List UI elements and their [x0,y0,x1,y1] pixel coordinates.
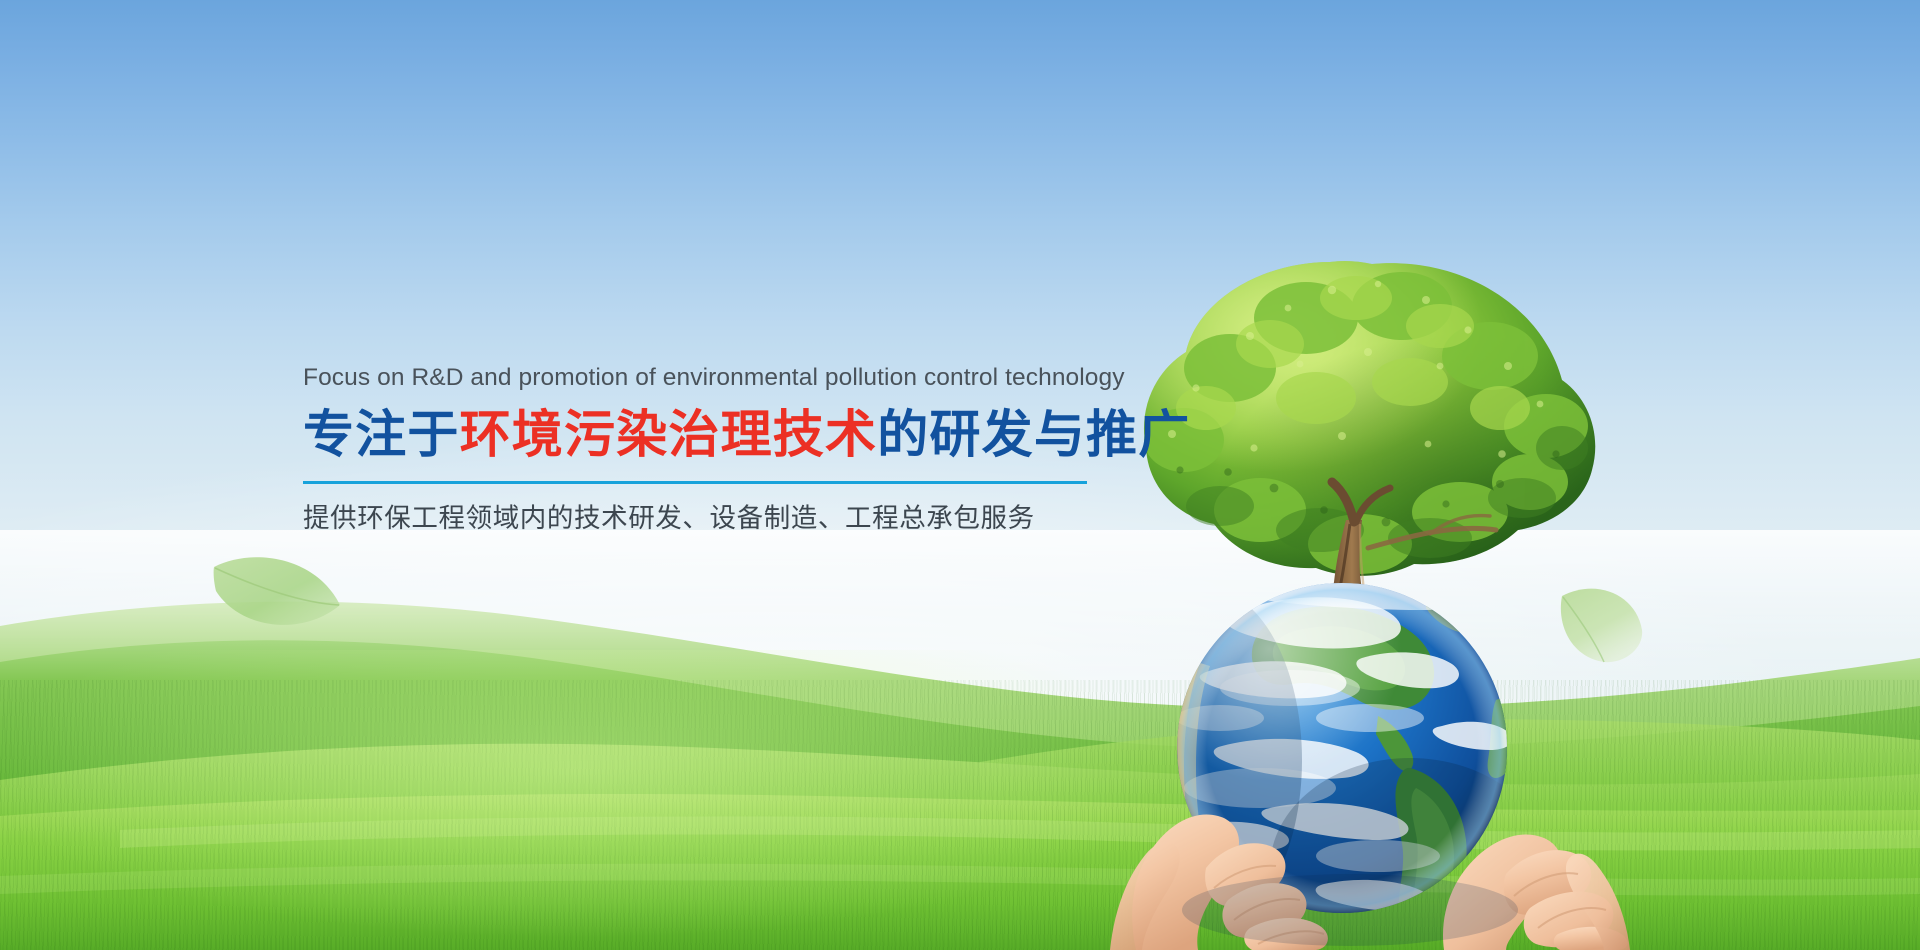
green-hills-landscape [0,530,1920,950]
banner-eyebrow-english: Focus on R&D and promotion of environmen… [303,363,1103,394]
headline-segment-tail: 的研发与推广 [877,406,1190,463]
tree-canopy [1144,261,1595,576]
hero-banner: Focus on R&D and promotion of environmen… [0,0,1920,950]
headline-segment-emphasis: 环境污染治理技术 [460,406,878,463]
banner-subline-chinese: 提供环保工程领域内的技术研发、设备制造、工程总承包服务 [303,501,1103,535]
banner-text-block: Focus on R&D and promotion of environmen… [303,363,1103,535]
headline-segment-lead: 专注于 [303,406,460,463]
headline-divider [303,481,1087,484]
banner-headline: 专注于环境污染治理技术的研发与推广 [303,405,1103,465]
tree-on-earth-composition [1110,248,1630,950]
